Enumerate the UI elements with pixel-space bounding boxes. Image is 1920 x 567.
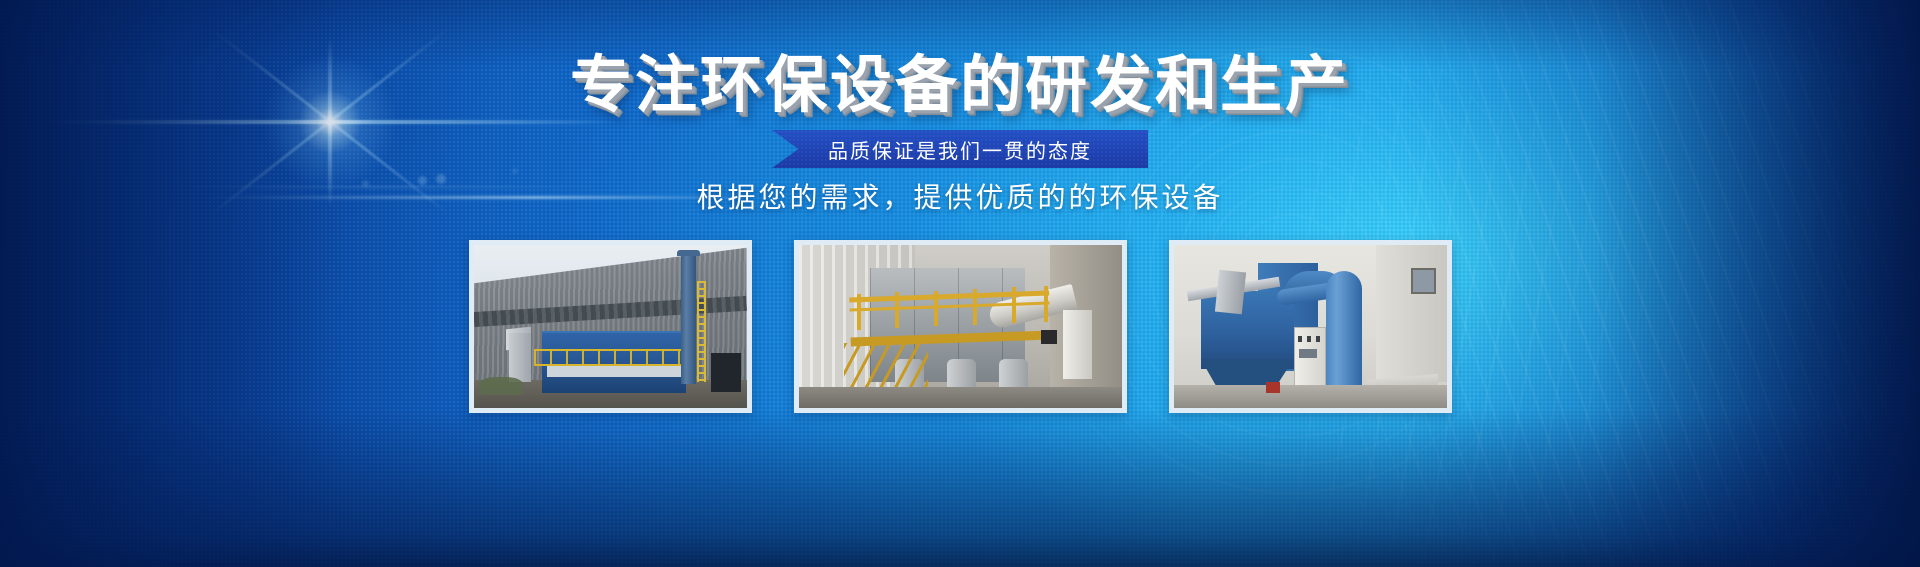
gallery-photo-1[interactable] <box>469 240 752 413</box>
hero-banner: 专注环保设备的研发和生产 品质保证是我们一贯的态度 根据您的需求，提供优质的的环… <box>0 0 1920 567</box>
banner-content: 专注环保设备的研发和生产 品质保证是我们一贯的态度 根据您的需求，提供优质的的环… <box>0 0 1920 567</box>
tagline-ribbon-label: 品质保证是我们一贯的态度 <box>828 135 1092 164</box>
photo-blue-dust-collector-system <box>1174 245 1447 408</box>
tagline-ribbon: 品质保证是我们一贯的态度 <box>772 130 1148 168</box>
photo-exhaust-treatment-plant-exterior <box>474 245 747 408</box>
photo-gallery <box>0 240 1920 413</box>
photo-indoor-air-purification-equipment <box>799 245 1122 408</box>
gallery-photo-3[interactable] <box>1169 240 1452 413</box>
gallery-photo-2[interactable] <box>794 240 1127 413</box>
ribbon-container: 品质保证是我们一贯的态度 <box>0 130 1920 168</box>
page-title: 专注环保设备的研发和生产 <box>0 52 1920 118</box>
page-subtitle: 根据您的需求，提供优质的的环保设备 <box>0 176 1920 216</box>
